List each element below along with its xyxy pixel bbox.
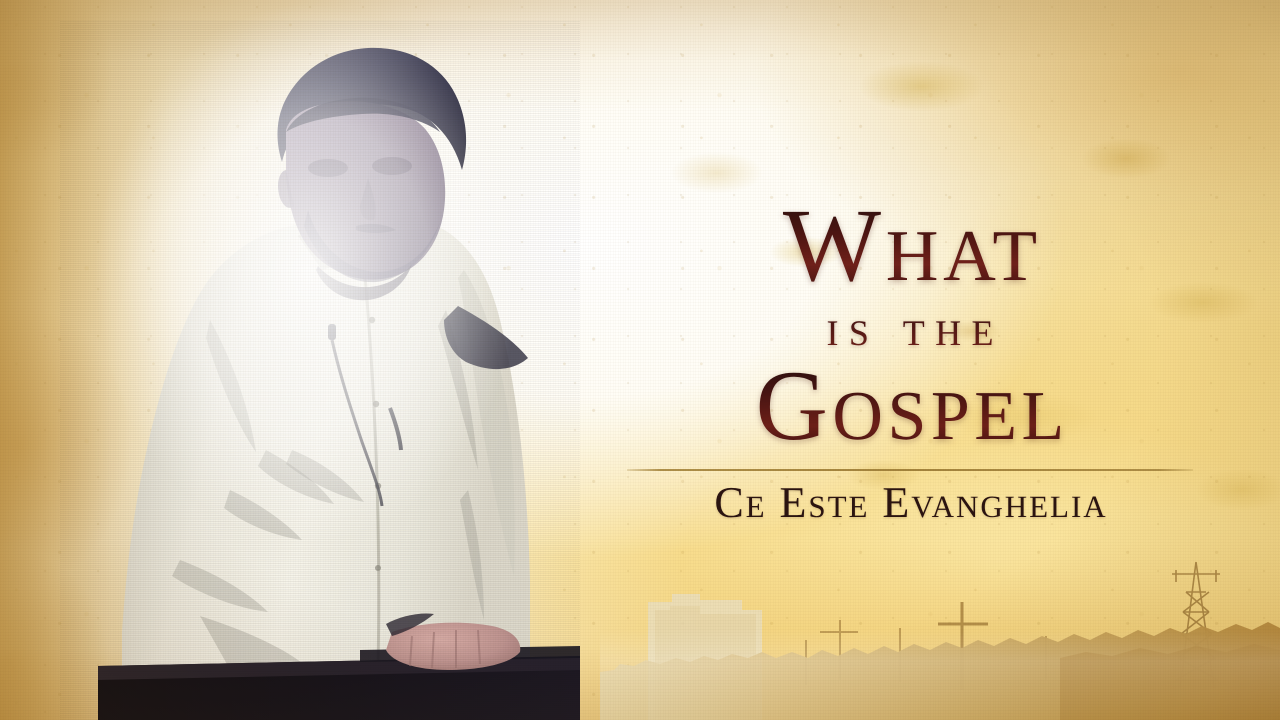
title-block: What is the Gospel Ce Este Evanghelia bbox=[610, 196, 1210, 528]
preacher-figure bbox=[60, 20, 580, 720]
title-line-what: What bbox=[610, 196, 1210, 296]
subtitle-romanian: Ce Este Evanghelia bbox=[610, 479, 1210, 527]
title-divider-rule bbox=[627, 469, 1193, 471]
title-line-gospel: Gospel bbox=[610, 357, 1210, 455]
title-card-poster: What is the Gospel Ce Este Evanghelia bbox=[0, 0, 1280, 720]
